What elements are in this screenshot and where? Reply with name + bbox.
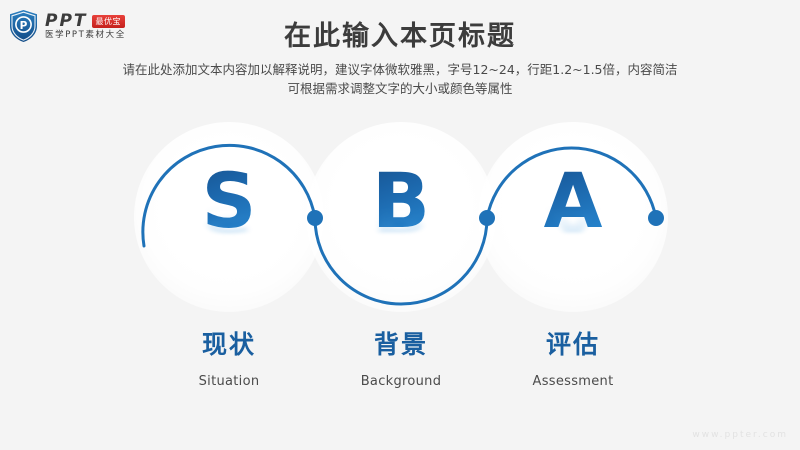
slide-canvas: P PPT 最优宝 医学PPT素材大全 在此输入本页标题 请在此处添加文本内容加… [0,0,800,450]
big-letter-s-reflection: S [134,197,324,238]
caption-cn-background: 背景 [306,330,496,360]
caption-item-background[interactable]: 背景 Background [306,330,496,391]
caption-item-situation[interactable]: 现状 Situation [134,330,324,391]
page-title: 在此输入本页标题 [0,14,800,53]
footer-watermark: www.ppter.com [692,430,788,440]
letter-unit-b: B B [306,162,496,316]
subtitle-line-2: 可根据需求调整文字的大小或颜色等属性 [0,79,800,98]
letter-unit-a: A A [478,162,668,316]
caption-cn-situation: 现状 [134,330,324,360]
big-letter-b-reflection: B [306,197,496,238]
caption-item-assessment[interactable]: 评估 Assessment [478,330,668,391]
subtitle-line-1: 请在此处添加文本内容加以解释说明，建议字体微软雅黑，字号12~24，行距1.2~… [0,60,800,79]
caption-en-background: Background [306,373,496,391]
caption-en-situation: Situation [134,373,324,391]
big-letter-a-reflection: A [478,197,668,238]
letter-unit-s: S S [134,162,324,316]
caption-row: 现状 Situation 背景 Background 评估 Assessment [0,330,800,420]
sba-diagram: S S B B A A [0,118,800,318]
caption-en-assessment: Assessment [478,373,668,391]
caption-cn-assessment: 评估 [478,330,668,360]
subtitle-block: 请在此处添加文本内容加以解释说明，建议字体微软雅黑，字号12~24，行距1.2~… [0,60,800,98]
